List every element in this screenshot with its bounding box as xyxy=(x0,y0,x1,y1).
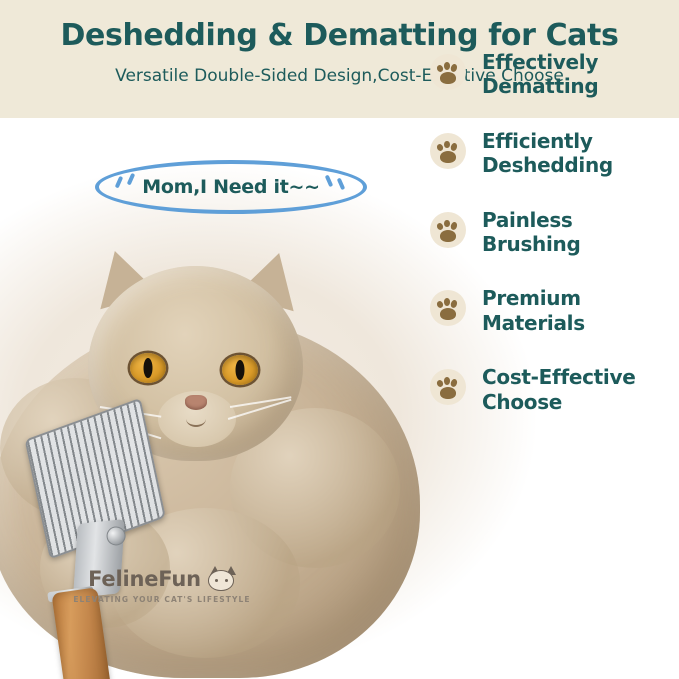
paw-toe xyxy=(450,378,458,387)
product-infographic: Deshedding & Dematting for Cats Versatil… xyxy=(0,0,679,679)
paw-toe xyxy=(444,298,450,306)
paw-print-icon xyxy=(430,133,466,169)
paw-toe xyxy=(436,379,444,388)
speech-bubble-text: Mom,I Need it~~ xyxy=(95,160,367,214)
feature-item: Cost-Effective Choose xyxy=(430,365,670,414)
paw-toe xyxy=(444,141,450,149)
cat-pupil xyxy=(144,358,153,378)
paw-pad xyxy=(440,230,456,242)
feature-item: Efficiently Deshedding xyxy=(430,129,670,178)
brand-row: FelineFun xyxy=(62,566,262,592)
paw-toe xyxy=(450,63,458,72)
paw-toe xyxy=(436,301,444,310)
feature-line-2: Dematting xyxy=(482,74,598,98)
feature-line-1: Cost-Effective xyxy=(482,365,636,389)
brand-tagline: ELEVATING YOUR CAT'S LIFESTYLE xyxy=(62,595,262,604)
brand-lockup: FelineFun ELEVATING YOUR CAT'S LIFESTYLE xyxy=(62,566,262,604)
feature-text: Painless Brushing xyxy=(482,208,581,257)
paw-pad xyxy=(440,72,456,84)
cat-face-eye-right xyxy=(225,579,228,582)
paw-print-icon xyxy=(430,369,466,405)
feature-text: Cost-Effective Choose xyxy=(482,365,636,414)
cat-eye-right xyxy=(222,355,258,385)
feature-item: Premium Materials xyxy=(430,286,670,335)
speech-bubble: Mom,I Need it~~ xyxy=(95,160,367,214)
feature-item: Effectively Dematting xyxy=(430,50,670,99)
paw-print-icon xyxy=(430,290,466,326)
feature-line-2: Brushing xyxy=(482,232,581,256)
paw-toe xyxy=(444,62,450,70)
feature-line-2: Choose xyxy=(482,390,636,414)
cat-face-icon xyxy=(206,566,236,592)
paw-toe xyxy=(436,222,444,231)
paw-print-icon xyxy=(430,54,466,90)
paw-toe xyxy=(444,377,450,385)
feature-list: Effectively Dematting Efficiently Deshed… xyxy=(430,50,670,444)
paw-toe xyxy=(450,142,458,151)
cat-eye-left xyxy=(130,353,166,383)
page-title: Deshedding & Dematting for Cats xyxy=(0,20,679,52)
feature-line-1: Effectively xyxy=(482,50,598,74)
feature-line-1: Efficiently xyxy=(482,129,613,153)
paw-toe xyxy=(444,220,450,228)
cat-pupil xyxy=(236,360,245,380)
feature-line-2: Deshedding xyxy=(482,153,613,177)
paw-toe xyxy=(436,143,444,152)
feature-text: Effectively Dematting xyxy=(482,50,598,99)
paw-print-icon xyxy=(430,212,466,248)
feature-text: Efficiently Deshedding xyxy=(482,129,613,178)
paw-pad xyxy=(440,308,456,320)
paw-toe xyxy=(450,300,458,309)
cat-face-eye-left xyxy=(215,579,218,582)
brand-name: FelineFun xyxy=(88,567,201,591)
cat-face-head xyxy=(208,570,234,591)
paw-pad xyxy=(440,151,456,163)
feature-item: Painless Brushing xyxy=(430,208,670,257)
feature-line-1: Premium xyxy=(482,286,585,310)
feature-line-1: Painless xyxy=(482,208,581,232)
feature-text: Premium Materials xyxy=(482,286,585,335)
feature-line-2: Materials xyxy=(482,311,585,335)
paw-toe xyxy=(436,64,444,73)
paw-toe xyxy=(450,221,458,230)
paw-pad xyxy=(440,387,456,399)
